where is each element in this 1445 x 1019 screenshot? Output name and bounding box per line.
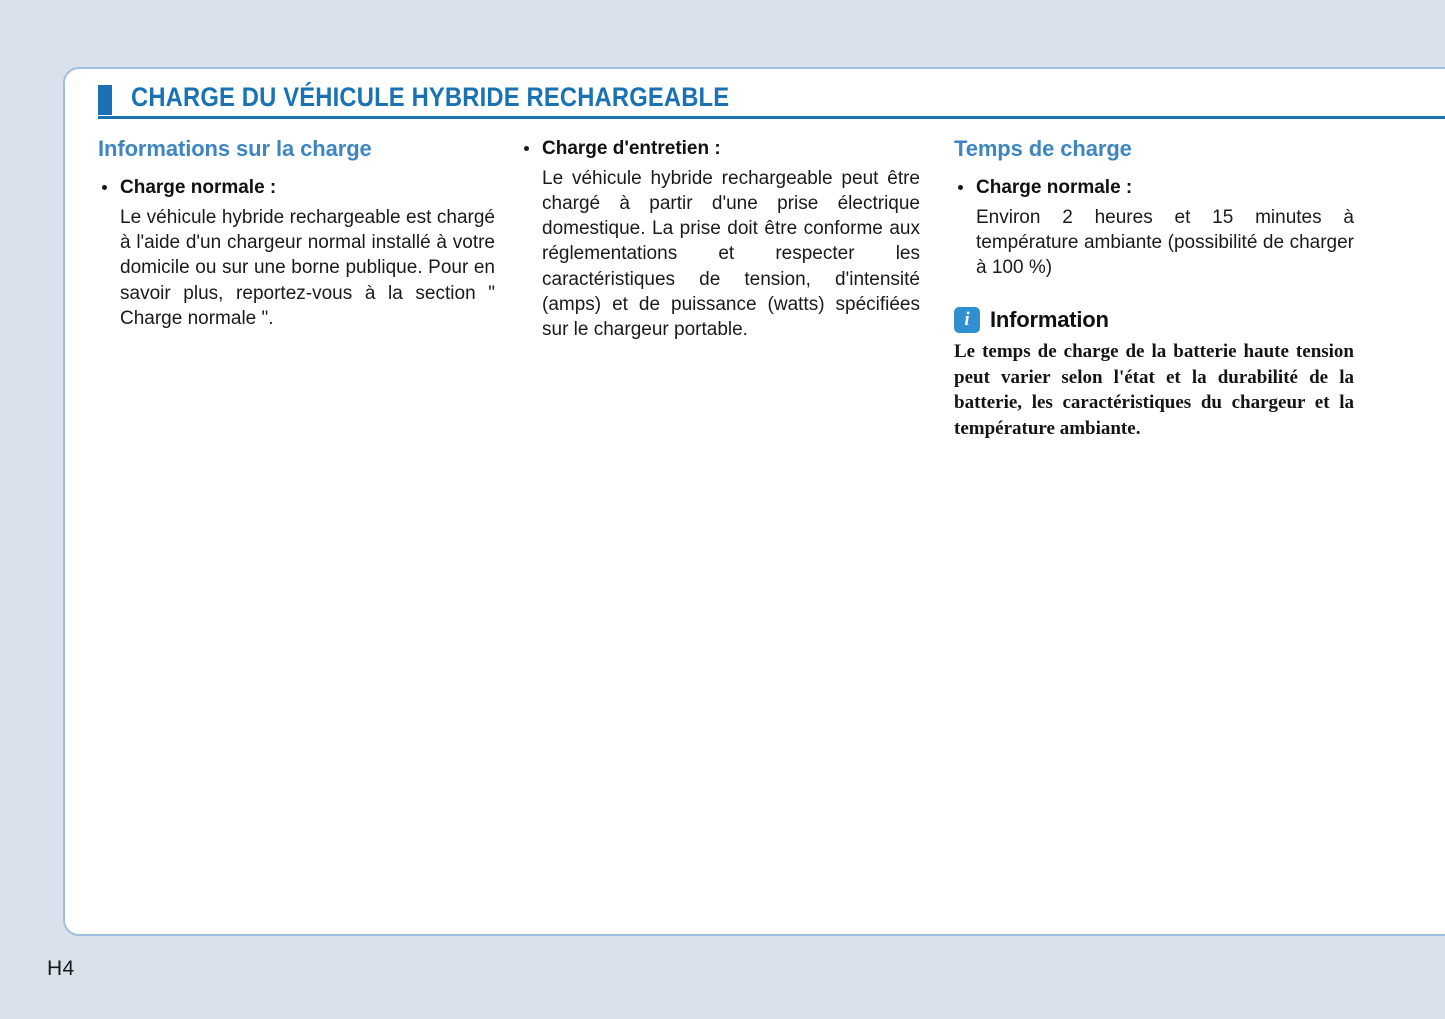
content-columns: Informations sur la charge Charge normal… xyxy=(65,137,1445,934)
bullet-dot-icon xyxy=(958,185,963,190)
title-underline-rule xyxy=(98,116,1445,119)
list-item-label: Charge normale : xyxy=(120,177,276,198)
title-accent-bar xyxy=(98,85,112,115)
list-item-label: Charge normale : xyxy=(976,177,1132,198)
info-icon: i xyxy=(954,307,980,333)
list-item: Charge normale : xyxy=(98,176,495,201)
bullet-dot-icon xyxy=(524,146,529,151)
list-item-body: Le véhicule hybride rechargeable est cha… xyxy=(120,205,495,331)
column-right: Temps de charge Charge normale : Environ… xyxy=(954,137,1354,442)
information-title: Information xyxy=(990,307,1109,333)
spacer xyxy=(954,281,1354,307)
column-left: Informations sur la charge Charge normal… xyxy=(98,137,495,331)
section-heading-temps-de-charge: Temps de charge xyxy=(954,137,1354,161)
list-item: Charge d'entretien : xyxy=(520,137,920,162)
information-body: Le temps de charge de la batterie haute … xyxy=(954,339,1354,442)
page-number: H4 xyxy=(47,957,74,981)
bullet-dot-icon xyxy=(102,185,107,190)
page-sheet: CHARGE DU VÉHICULE HYBRIDE RECHARGEABLE … xyxy=(63,67,1445,936)
chapter-title-row: CHARGE DU VÉHICULE HYBRIDE RECHARGEABLE xyxy=(65,83,1445,125)
list-item-label: Charge d'entretien : xyxy=(542,138,721,159)
column-middle: Charge d'entretien : Le véhicule hybride… xyxy=(520,137,920,343)
page-title: CHARGE DU VÉHICULE HYBRIDE RECHARGEABLE xyxy=(131,82,729,113)
list-item-body: Environ 2 heures et 15 minutes à tempéra… xyxy=(976,205,1354,281)
information-header: i Information xyxy=(954,307,1354,333)
section-heading-informations-sur-la-charge: Informations sur la charge xyxy=(98,137,495,161)
list-item-body: Le véhicule hybride rechargeable peut êt… xyxy=(542,166,920,343)
list-item: Charge normale : xyxy=(954,176,1354,201)
